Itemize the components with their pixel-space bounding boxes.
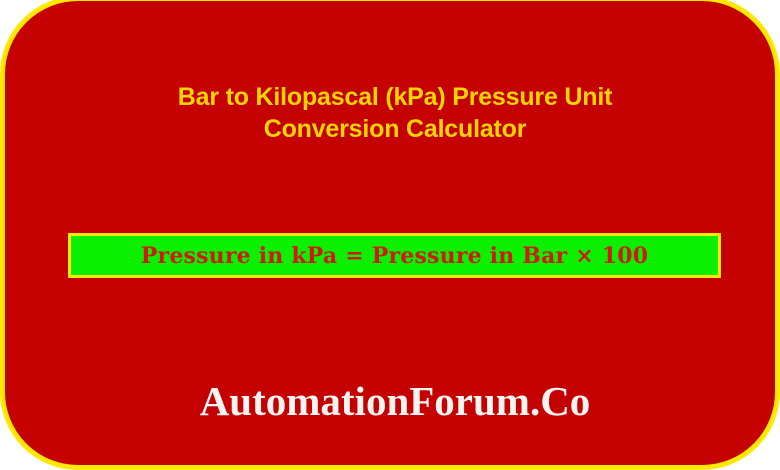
formula-box: Pressure in kPa = Pressure in Bar × 100 <box>68 233 721 278</box>
page-title-line-2: Conversion Calculator <box>65 113 725 145</box>
brand-wordmark: AutomationForum.Co <box>45 378 745 424</box>
page-title: Bar to Kilopascal (kPa) Pressure Unit Co… <box>65 81 725 145</box>
formula-text: Pressure in kPa = Pressure in Bar × 100 <box>141 243 648 269</box>
calculator-panel: Bar to Kilopascal (kPa) Pressure Unit Co… <box>0 0 780 470</box>
page-title-line-1: Bar to Kilopascal (kPa) Pressure Unit <box>65 81 725 113</box>
screenshot-canvas: Bar to Kilopascal (kPa) Pressure Unit Co… <box>0 0 780 470</box>
